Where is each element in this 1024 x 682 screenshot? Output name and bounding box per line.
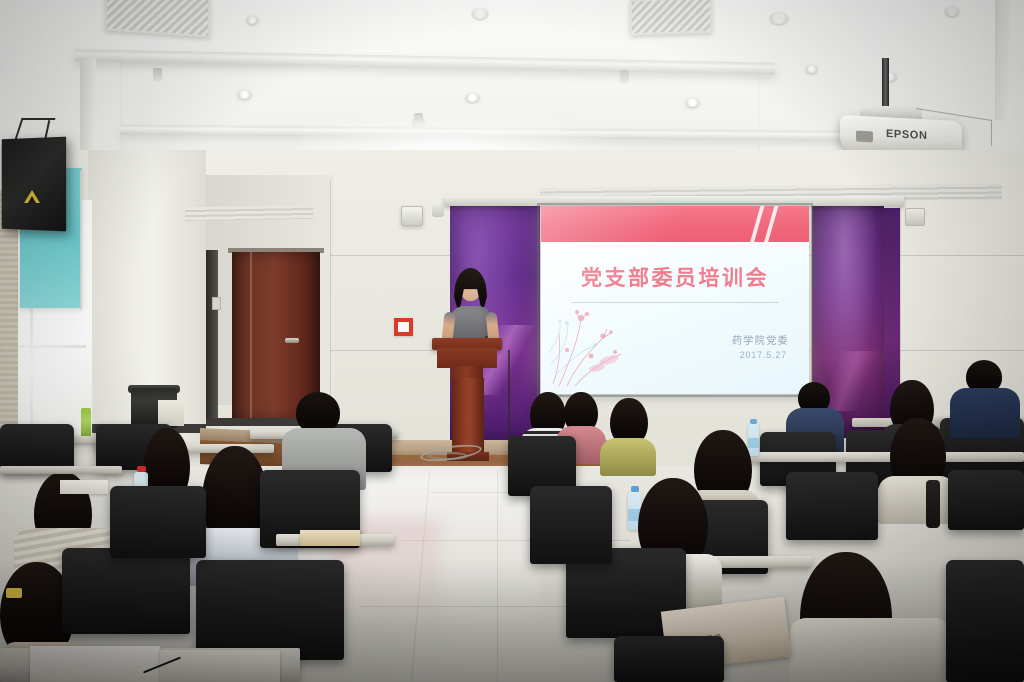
chair[interactable] (62, 548, 190, 634)
paper-stack (160, 650, 280, 682)
student-r1 (790, 570, 940, 682)
chair[interactable] (786, 472, 878, 540)
ceiling-downlight-icon (806, 65, 817, 73)
open-notebook (30, 646, 160, 682)
light-switch-icon[interactable] (212, 297, 221, 310)
student-r4 (878, 418, 956, 516)
projector-lens-icon (856, 131, 873, 143)
projection-screen-frame (537, 203, 813, 397)
blind-pull-cord[interactable] (80, 170, 82, 310)
bag-strap (926, 480, 940, 528)
student-body (878, 476, 956, 524)
chair[interactable] (110, 486, 206, 558)
hvac-vent-icon (105, 0, 210, 38)
ceiling-beam-drop (80, 58, 96, 158)
smoke-detector-icon (945, 6, 959, 16)
student-r8 (950, 360, 1020, 436)
sprinkler-icon (153, 68, 162, 82)
wall-speaker-icon (401, 206, 423, 226)
chair[interactable] (948, 470, 1024, 530)
wall-louver-strip-left (185, 205, 313, 221)
chair[interactable] (530, 486, 612, 564)
sprinkler-icon (620, 70, 629, 84)
ceiling-downlight-icon (247, 16, 258, 24)
ceiling-beam-right (995, 0, 1011, 120)
door-seam (250, 252, 252, 420)
floor-cable-coil (428, 452, 468, 460)
hvac-vent-icon (630, 0, 712, 35)
student-body (600, 438, 656, 476)
ceiling-downlight-icon (686, 98, 699, 107)
red-square-marker (394, 318, 413, 336)
student-body (790, 618, 950, 682)
door-handle-icon[interactable] (285, 338, 299, 343)
wall-panel-seam (330, 180, 331, 420)
speaker-cabinet (2, 137, 66, 232)
student-body (950, 388, 1020, 438)
chair[interactable] (614, 636, 724, 682)
hanging-loudspeaker (0, 118, 80, 238)
chair[interactable] (0, 424, 74, 472)
chair[interactable] (196, 560, 344, 660)
wall-speaker-icon (432, 203, 444, 217)
student-front-right-2 (600, 398, 656, 468)
smoke-detector-icon (770, 12, 788, 24)
projector-mount-pole (882, 58, 889, 110)
paper-sheet (60, 480, 108, 494)
speaker-logo-icon (28, 196, 36, 203)
ceiling-downlight-icon (466, 93, 479, 102)
smoke-detector-icon (472, 8, 488, 19)
discarded-paper (158, 400, 184, 426)
bottle-cap (750, 419, 757, 424)
folder (300, 530, 360, 546)
lecture-hall-photo: EPSON (0, 0, 1024, 682)
projector-brand-label: EPSON (886, 128, 928, 142)
wall-speaker-icon (905, 208, 925, 226)
bottle-cap (137, 466, 146, 472)
desk (0, 466, 122, 474)
chair[interactable] (946, 560, 1024, 682)
door-recess-shadow (206, 250, 218, 425)
hair-clip-icon (6, 588, 22, 598)
ceiling-downlight-icon (238, 90, 251, 99)
podium-body (437, 348, 497, 368)
